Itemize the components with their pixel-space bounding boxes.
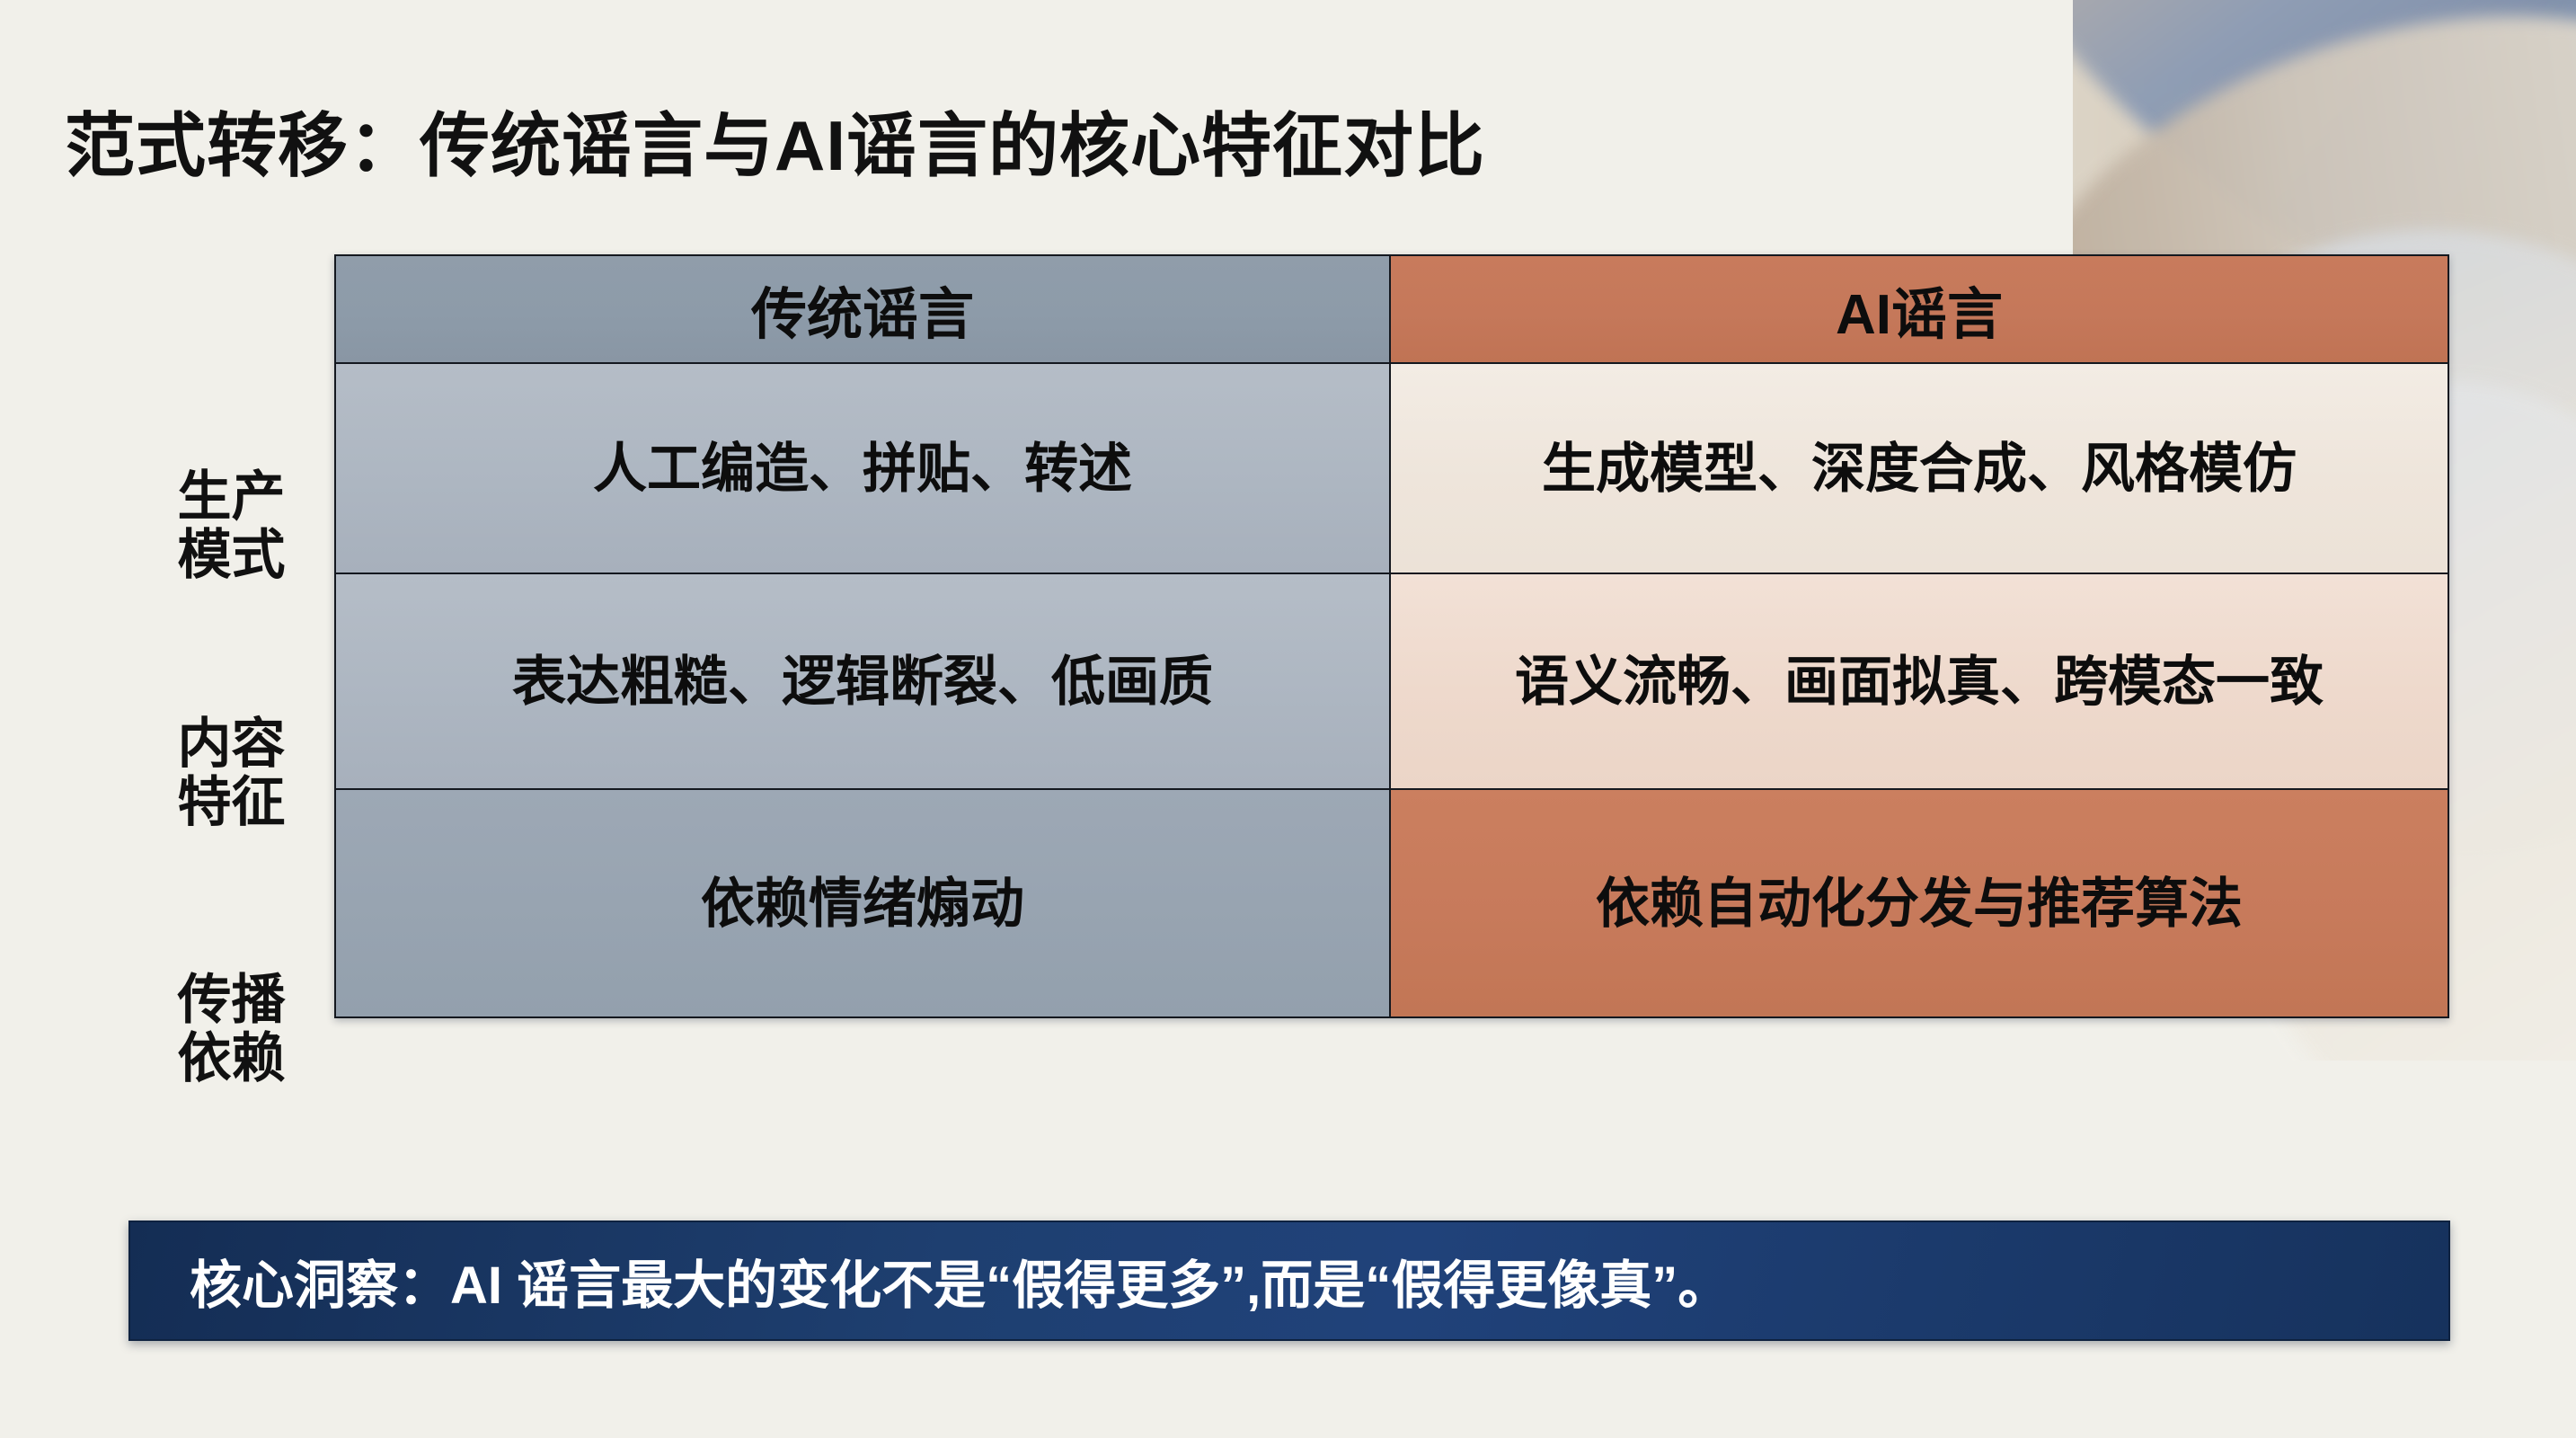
- row-label-line-2: 特征: [178, 774, 286, 832]
- cell-production-ai: 生成模型、深度合成、风格模仿: [1390, 363, 2448, 573]
- page-title: 范式转移：传统谣言与AI谣言的核心特征对比: [65, 90, 1485, 191]
- table-row: 人工编造、拼贴、转述 生成模型、深度合成、风格模仿: [335, 363, 2448, 573]
- cell-propagation-traditional: 依赖情绪煽动: [335, 789, 1390, 1017]
- insight-banner: 核心洞察：AI 谣言最大的变化不是“假得更多”,而是“假得更像真”。: [128, 1221, 2450, 1341]
- cell-content-ai: 语义流畅、画面拟真、跨模态一致: [1390, 573, 2448, 789]
- table-row: 依赖情绪煽动 依赖自动化分发与推荐算法: [335, 789, 2448, 1017]
- row-label-line-1: 内容: [178, 715, 286, 774]
- row-label-propagation-reliance: 传播 依赖: [135, 899, 328, 1161]
- cell-propagation-ai: 依赖自动化分发与推荐算法: [1390, 789, 2448, 1017]
- row-label-production-mode: 生产 模式: [135, 404, 328, 649]
- row-label-line-2: 模式: [178, 527, 286, 585]
- cell-content-traditional: 表达粗糙、逻辑断裂、低画质: [335, 573, 1390, 789]
- comparison-table: 传统谣言 AI谣言 人工编造、拼贴、转述 生成模型、深度合成、风格模仿 表达粗糙…: [334, 254, 2449, 1018]
- row-label-line-1: 生产: [178, 468, 286, 527]
- table-row: 表达粗糙、逻辑断裂、低画质 语义流畅、画面拟真、跨模态一致: [335, 573, 2448, 789]
- row-label-line-1: 传播: [178, 972, 286, 1030]
- column-header-ai: AI谣言: [1390, 255, 2448, 363]
- column-header-traditional: 传统谣言: [335, 255, 1390, 363]
- row-label-column: 生产 模式 内容 特征 传播 依赖: [135, 404, 328, 1161]
- row-label-line-2: 依赖: [178, 1030, 286, 1088]
- row-label-content-features: 内容 特征: [135, 649, 328, 899]
- table-header-row: 传统谣言 AI谣言: [335, 255, 2448, 363]
- cell-production-traditional: 人工编造、拼贴、转述: [335, 363, 1390, 573]
- insight-banner-text: 核心洞察：AI 谣言最大的变化不是“假得更多”,而是“假得更像真”。: [130, 1243, 1730, 1318]
